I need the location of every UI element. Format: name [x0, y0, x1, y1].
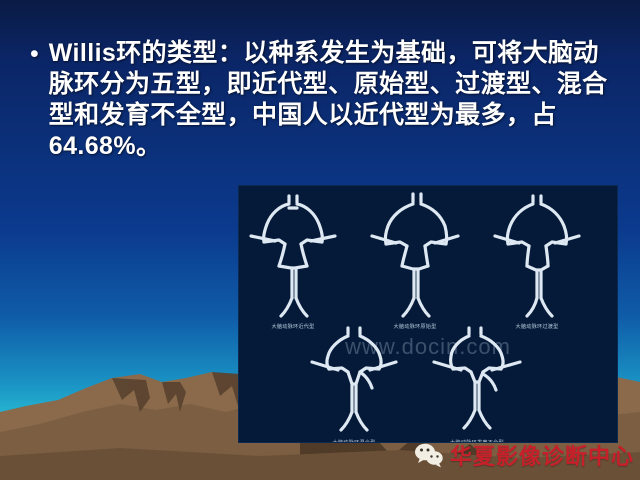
diagram-caption: 大脑动脉环混合型 [306, 439, 402, 443]
slide-text-block: • Willis环的类型：以种系发生为基础，可将大脑动脉环分为五型，即近代型、原… [30, 38, 610, 162]
diagram-modern: 大脑动脉环近代型 [245, 194, 341, 330]
diagram-transitional: 大脑动脉环过渡型 [489, 194, 585, 330]
brand-name: 华夏影像诊断中心 [450, 439, 634, 471]
presentation-slide: • Willis环的类型：以种系发生为基础，可将大脑动脉环分为五型，即近代型、原… [0, 0, 640, 480]
diagram-hypoplastic: 大脑动脉环发育不全型 [429, 326, 525, 443]
willis-circle-figure-panel: www.docin.com [238, 185, 618, 443]
wechat-icon [414, 442, 444, 468]
diagram-primitive: 大脑动脉环原始型 [367, 192, 463, 330]
bullet-marker: • [30, 42, 39, 67]
diagram-mixed: 大脑动脉环混合型 [306, 326, 402, 443]
branding-group: 华夏影像诊断中心 [414, 439, 634, 471]
page-title: Willis环的类型：以种系发生为基础，可将大脑动脉环分为五型，即近代型、原始型… [49, 38, 610, 162]
